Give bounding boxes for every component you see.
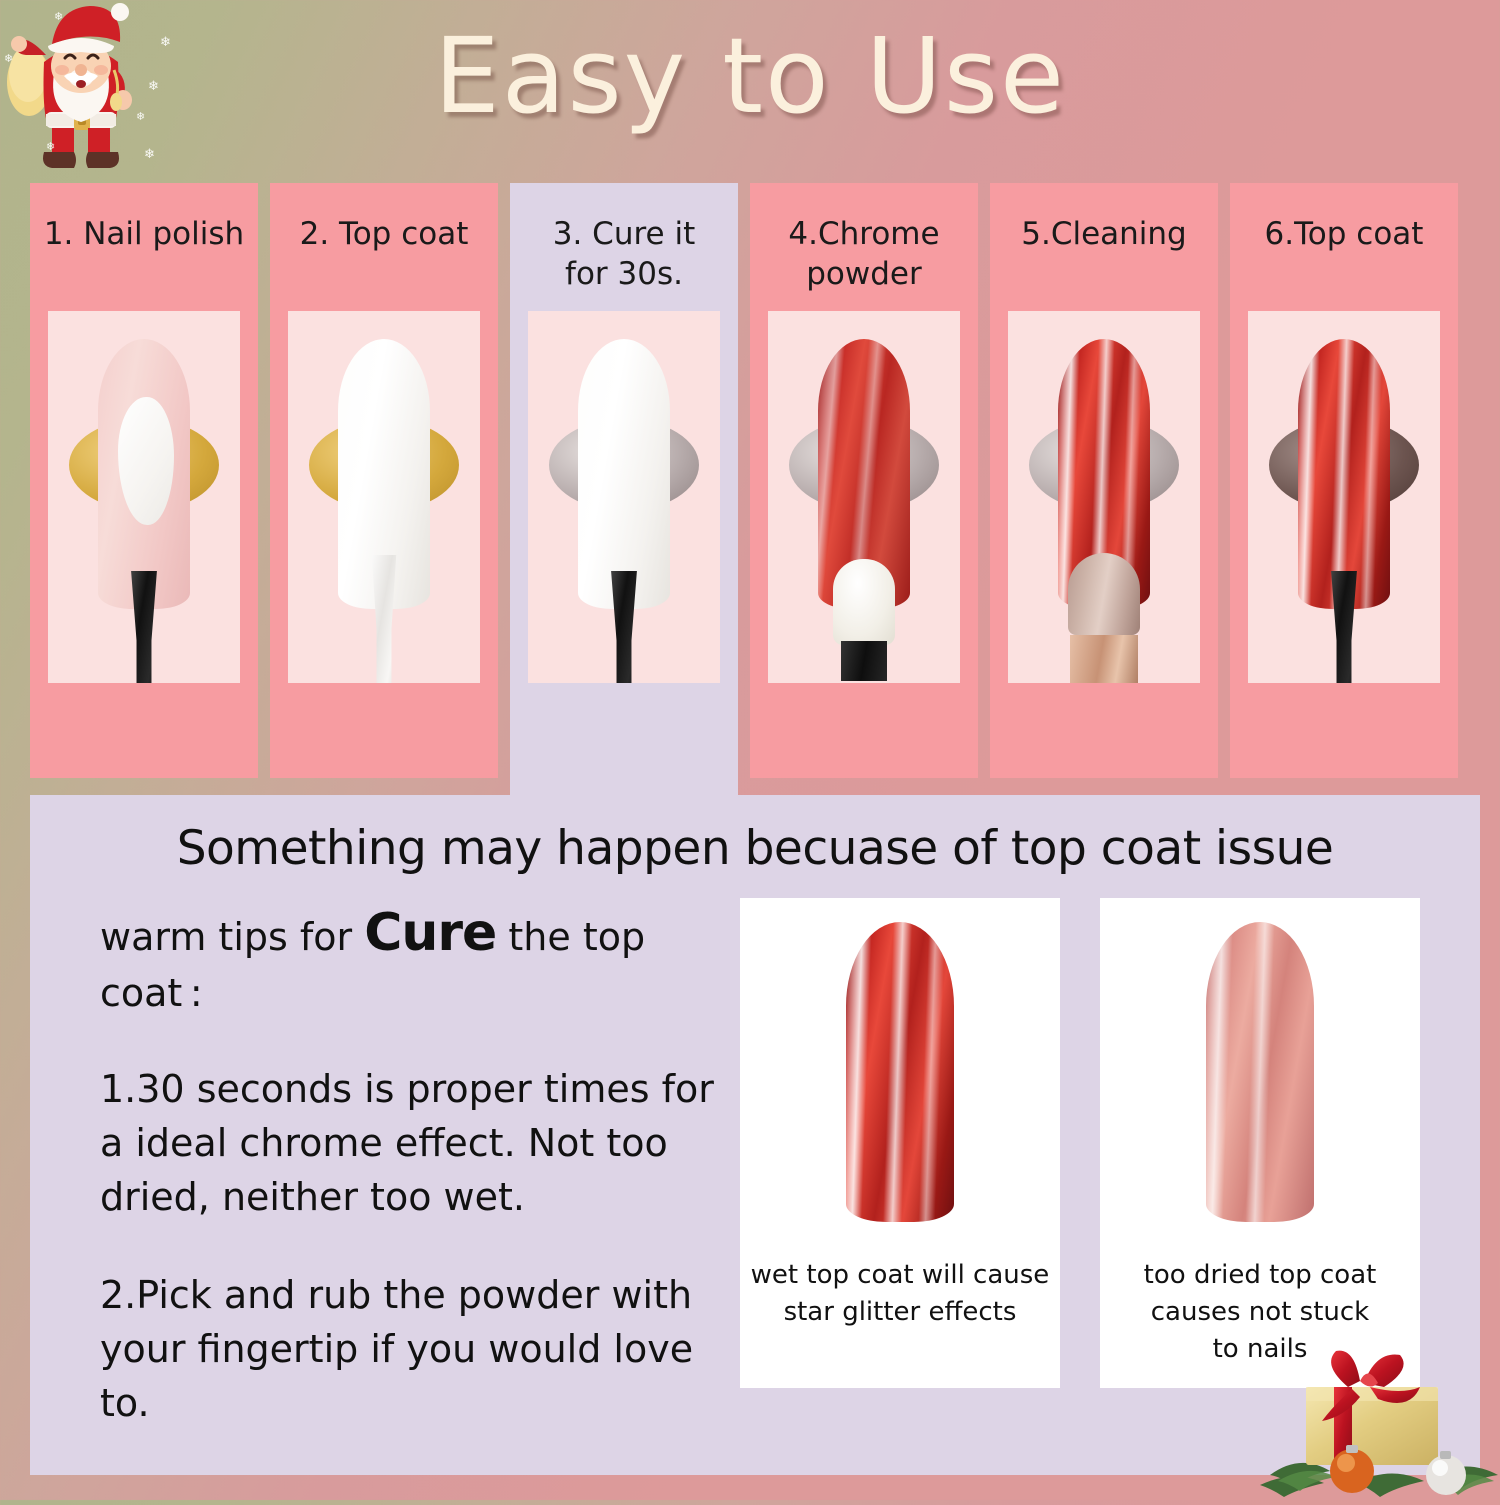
tips-lead-before: warm tips for <box>100 915 364 959</box>
step-panel-5: 5.Cleaning <box>990 183 1218 778</box>
step-label-3: 3. Cure it for 30s. <box>510 215 738 294</box>
cleaning-brush <box>1065 553 1143 683</box>
brush-applicator <box>607 571 641 683</box>
step-panel-4: 4.Chrome powder <box>750 183 978 778</box>
tips-keyword-cure: Cure <box>364 903 496 963</box>
warm-tips-block: warm tips for Cure the top coat : 1.30 s… <box>30 898 730 1431</box>
step-panel-3: 3. Cure it for 30s. <box>510 183 738 808</box>
tip-item-1: 1.30 seconds is proper times for a ideal… <box>100 1063 730 1225</box>
step-label-4-line2: powder <box>806 256 922 292</box>
steps-strip: 1. Nail polish 2. Top coat 3. Cure it fo… <box>30 183 1480 778</box>
step-panel-1: 1. Nail polish <box>30 183 258 778</box>
card-caption-line2: causes not stuck <box>1151 1297 1369 1327</box>
sponge-applicator <box>833 559 895 683</box>
step-photo-1 <box>48 311 240 683</box>
page-title: Easy to Use <box>0 24 1500 128</box>
comparison-card-dried: too dried top coat causes not stuck to n… <box>1100 898 1420 1388</box>
polish-blob <box>118 397 174 525</box>
snowflake-icon: ❄ <box>46 140 55 153</box>
card-caption-line1: wet top coat will cause <box>751 1260 1050 1290</box>
christmas-gift-decoration <box>1260 1325 1500 1500</box>
nail-tip <box>846 922 954 1222</box>
nail-tip <box>1206 922 1314 1222</box>
nail-tip <box>98 339 190 609</box>
step-photo-4 <box>768 311 960 683</box>
nail-tip <box>578 339 670 609</box>
card-caption-line2: star glitter effects <box>784 1297 1017 1327</box>
step-photo-5 <box>1008 311 1200 683</box>
step-label-6: 6.Top coat <box>1230 215 1458 255</box>
step-panel-6: 6.Top coat <box>1230 183 1458 778</box>
step-label-5: 5.Cleaning <box>990 215 1218 255</box>
bottom-heading: Something may happen becuase of top coat… <box>30 821 1480 876</box>
brush-applicator <box>367 555 401 683</box>
comparison-card-wet: wet top coat will cause star glitter eff… <box>740 898 1060 1388</box>
snowflake-icon: ❄ <box>144 146 155 162</box>
step-label-4: 4.Chrome powder <box>750 215 978 294</box>
step-panel-2: 2. Top coat <box>270 183 498 778</box>
step-photo-6 <box>1248 311 1440 683</box>
step-label-2: 2. Top coat <box>270 215 498 255</box>
snowflake-icon: ❄ <box>54 10 63 23</box>
step-photo-3 <box>528 311 720 683</box>
brush-applicator <box>127 571 161 683</box>
nail-tip <box>1298 339 1390 609</box>
step-label-3-line2: for 30s. <box>565 256 683 292</box>
tip-item-2: 2.Pick and rub the powder with your fing… <box>100 1269 730 1431</box>
step-label-1: 1. Nail polish <box>30 215 258 255</box>
step-label-3-line1: 3. Cure it <box>553 216 695 252</box>
tips-lead: warm tips for Cure the top coat : <box>100 898 730 1019</box>
card-photo <box>740 898 1060 1253</box>
gift-box-icon <box>1260 1325 1500 1500</box>
step-label-4-line1: 4.Chrome <box>788 216 939 252</box>
card-photo <box>1100 898 1420 1253</box>
card-caption-line1: too dried top coat <box>1144 1260 1377 1290</box>
card-caption: wet top coat will cause star glitter eff… <box>741 1253 1060 1331</box>
brush-applicator <box>1327 571 1361 683</box>
step-photo-2 <box>288 311 480 683</box>
